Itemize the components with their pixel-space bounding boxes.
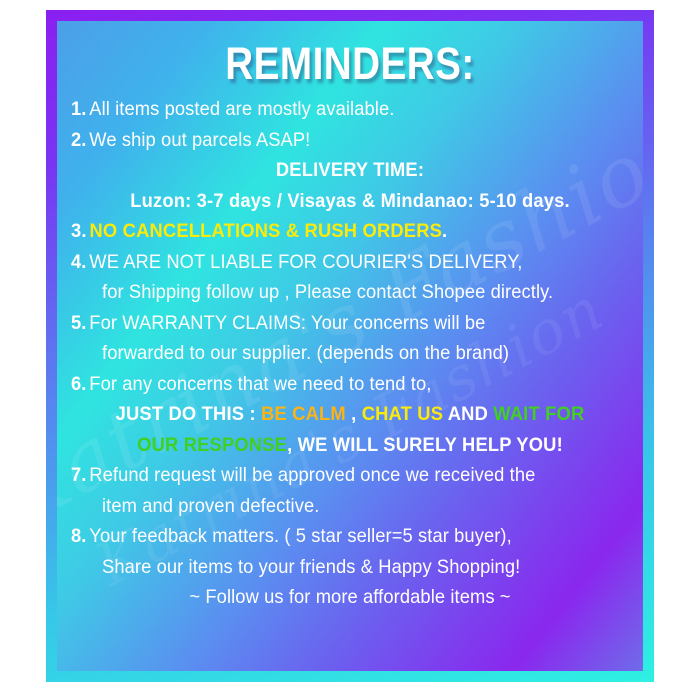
- list-item-8: 8.Your feedback matters. ( 5 star seller…: [71, 527, 596, 547]
- list-item-3: 3.NO CANCELLATIONS & RUSH ORDERS.: [71, 222, 596, 242]
- list-item-5-continuation: forwarded to our supplier. (depends on t…: [71, 344, 596, 364]
- cta-comma: ,: [346, 403, 362, 425]
- list-item-8-continuation: Share our items to your friends & Happy …: [71, 558, 596, 578]
- gradient-border-frame: Katrina's Fashion Katrina's Fashion REMI…: [46, 10, 654, 682]
- cta-wait-for: WAIT FOR: [493, 403, 584, 425]
- list-item-3-number: 3.: [71, 220, 87, 242]
- list-item-4-continuation: for Shipping follow up , Please contact …: [71, 283, 596, 303]
- list-item-1: 1.All items posted are mostly available.: [71, 100, 596, 120]
- list-item-3-period: .: [442, 220, 447, 242]
- cta-our-response: OUR RESPONSE: [137, 434, 287, 456]
- reminders-list: 1.All items posted are mostly available.…: [71, 100, 629, 608]
- cta-tail: , WE WILL SURELY HELP YOU!: [287, 434, 563, 456]
- list-item-2-text: We ship out parcels ASAP!: [89, 129, 310, 151]
- list-item-7-number: 7.: [71, 464, 86, 486]
- list-item-1-text: All items posted are mostly available.: [89, 98, 394, 120]
- list-item-8-text-line1: Your feedback matters. ( 5 star seller=5…: [89, 525, 512, 547]
- poster-content: Katrina's Fashion Katrina's Fashion REMI…: [57, 21, 643, 671]
- list-item-7: 7.Refund request will be approved once w…: [71, 466, 596, 486]
- cta-and: AND: [443, 403, 493, 425]
- cta-line-2: OUR RESPONSE, WE WILL SURELY HELP YOU!: [88, 436, 613, 456]
- list-item-4: 4.WE ARE NOT LIABLE FOR COURIER'S DELIVE…: [71, 253, 596, 273]
- cta-lead: JUST DO THIS :: [116, 403, 261, 425]
- list-item-5-text-line1: For WARRANTY CLAIMS: Your concerns will …: [89, 312, 485, 334]
- list-item-2-number: 2.: [71, 129, 86, 151]
- cta-chat-us: CHAT US: [362, 403, 443, 425]
- list-item-4-number: 4.: [71, 251, 86, 273]
- poster-page: Katrina's Fashion Katrina's Fashion REMI…: [0, 0, 700, 700]
- list-item-6-text-line1: For any concerns that we need to tend to…: [89, 373, 431, 395]
- list-item-6: 6.For any concerns that we need to tend …: [71, 375, 596, 395]
- list-item-6-number: 6.: [71, 373, 86, 395]
- list-item-5-number: 5.: [71, 312, 86, 334]
- list-item-5: 5.For WARRANTY CLAIMS: Your concerns wil…: [71, 314, 596, 334]
- cta-be-calm: BE CALM: [261, 403, 346, 425]
- list-item-7-continuation: item and proven defective.: [71, 497, 596, 517]
- list-item-7-text-line1: Refund request will be approved once we …: [89, 464, 535, 486]
- delivery-time-detail: Luzon: 3-7 days / Visayas & Mindanao: 5-…: [88, 192, 613, 212]
- list-item-1-number: 1.: [71, 98, 86, 120]
- page-title: REMINDERS:: [110, 41, 590, 86]
- list-item-3-highlight: NO CANCELLATIONS & RUSH ORDERS: [89, 220, 442, 242]
- delivery-time-heading: DELIVERY TIME:: [88, 161, 613, 181]
- footer-note: ~ Follow us for more affordable items ~: [88, 588, 613, 608]
- list-item-8-number: 8.: [71, 525, 86, 547]
- list-item-4-text-line1: WE ARE NOT LIABLE FOR COURIER'S DELIVERY…: [89, 251, 522, 273]
- cta-line-1: JUST DO THIS : BE CALM , CHAT US AND WAI…: [88, 405, 613, 425]
- list-item-2: 2.We ship out parcels ASAP!: [71, 131, 596, 151]
